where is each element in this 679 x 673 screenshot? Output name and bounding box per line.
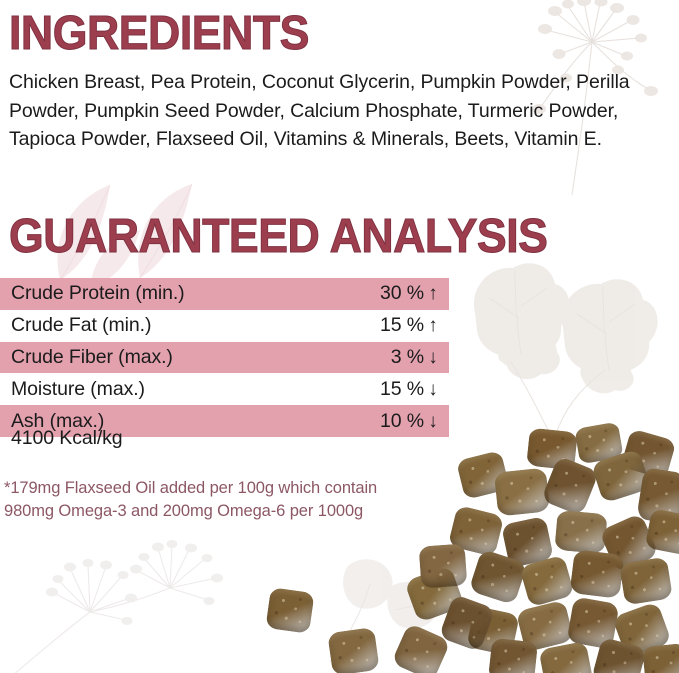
- kibble-piece: [448, 505, 505, 557]
- analysis-row: Moisture (max.)15 %↓: [0, 373, 449, 405]
- kibble-piece: [456, 450, 510, 500]
- analysis-row-value: 30 %: [380, 282, 424, 305]
- kibble-piece: [612, 601, 672, 659]
- kibble-piece: [591, 448, 652, 503]
- ingredients-heading: INGREDIENTS: [9, 6, 309, 62]
- analysis-row: Crude Fat (min.)15 %↑: [0, 310, 449, 342]
- product-label-panel: INGREDIENTS Chicken Breast, Pea Protein,…: [0, 0, 679, 673]
- analysis-row-label: Crude Fat (min.): [11, 314, 380, 337]
- arrow-down-icon: ↓: [424, 348, 442, 367]
- kibble-piece: [327, 627, 380, 673]
- kibble-piece: [566, 596, 619, 649]
- geranium-leaf-watermark: [455, 258, 665, 438]
- guaranteed-analysis-table: Crude Protein (min.)30 %↑Crude Fat (min.…: [0, 278, 449, 437]
- arrow-up-icon: ↑: [424, 316, 442, 335]
- kibble-piece: [619, 557, 673, 606]
- kibble-piece: [466, 606, 520, 657]
- kibble-piece: [516, 600, 575, 653]
- kibble-piece: [570, 549, 625, 599]
- kibble-piece: [538, 641, 593, 673]
- analysis-row-label: Moisture (max.): [11, 378, 380, 401]
- kcal-value: 4100 Kcal/kg: [11, 427, 123, 450]
- analysis-row: Crude Fiber (max.)3 %↓: [0, 342, 449, 374]
- kibble-piece: [494, 467, 550, 516]
- flaxseed-oil-footnote: *179mg Flaxseed Oil added per 100g which…: [4, 477, 404, 522]
- arrow-down-icon: ↓: [424, 412, 442, 431]
- kibble-piece: [265, 587, 314, 634]
- kibble-piece: [391, 623, 451, 673]
- kibble-piece: [642, 643, 679, 673]
- kibble-piece: [404, 565, 465, 623]
- arrow-up-icon: ↑: [424, 284, 442, 303]
- dill-umbel-watermark: [10, 540, 260, 673]
- kibble-piece: [419, 543, 468, 588]
- kibble-piece: [526, 428, 578, 471]
- arrow-down-icon: ↓: [424, 380, 442, 399]
- kibble-piece: [620, 428, 676, 479]
- kibble-piece: [501, 516, 554, 568]
- ingredients-list-text: Chicken Breast, Pea Protein, Coconut Gly…: [9, 68, 664, 154]
- kibble-piece: [554, 510, 607, 554]
- analysis-row-value: 15 %: [380, 378, 424, 401]
- kibble-piece: [519, 554, 575, 607]
- leaf-watermark: [300, 550, 460, 670]
- kibble-piece: [599, 513, 660, 574]
- guaranteed-analysis-heading: GUARANTEED ANALYSIS: [9, 209, 547, 265]
- kibble-piece: [574, 421, 624, 464]
- kibble-piece: [438, 594, 495, 652]
- kibble-piece: [468, 549, 527, 606]
- kibble-piece: [645, 508, 679, 556]
- kibble-piece: [591, 637, 647, 673]
- analysis-row-value: 10 %: [380, 410, 424, 433]
- analysis-row-value: 15 %: [380, 314, 424, 337]
- kibble-piece: [541, 456, 600, 517]
- kibble-piece: [636, 467, 679, 525]
- analysis-row-value: 3 %: [391, 346, 424, 369]
- kibble-piece: [488, 638, 538, 673]
- analysis-row-label: Crude Fiber (max.): [11, 346, 391, 369]
- analysis-row: Crude Protein (min.)30 %↑: [0, 278, 449, 310]
- analysis-row-label: Crude Protein (min.): [11, 282, 380, 305]
